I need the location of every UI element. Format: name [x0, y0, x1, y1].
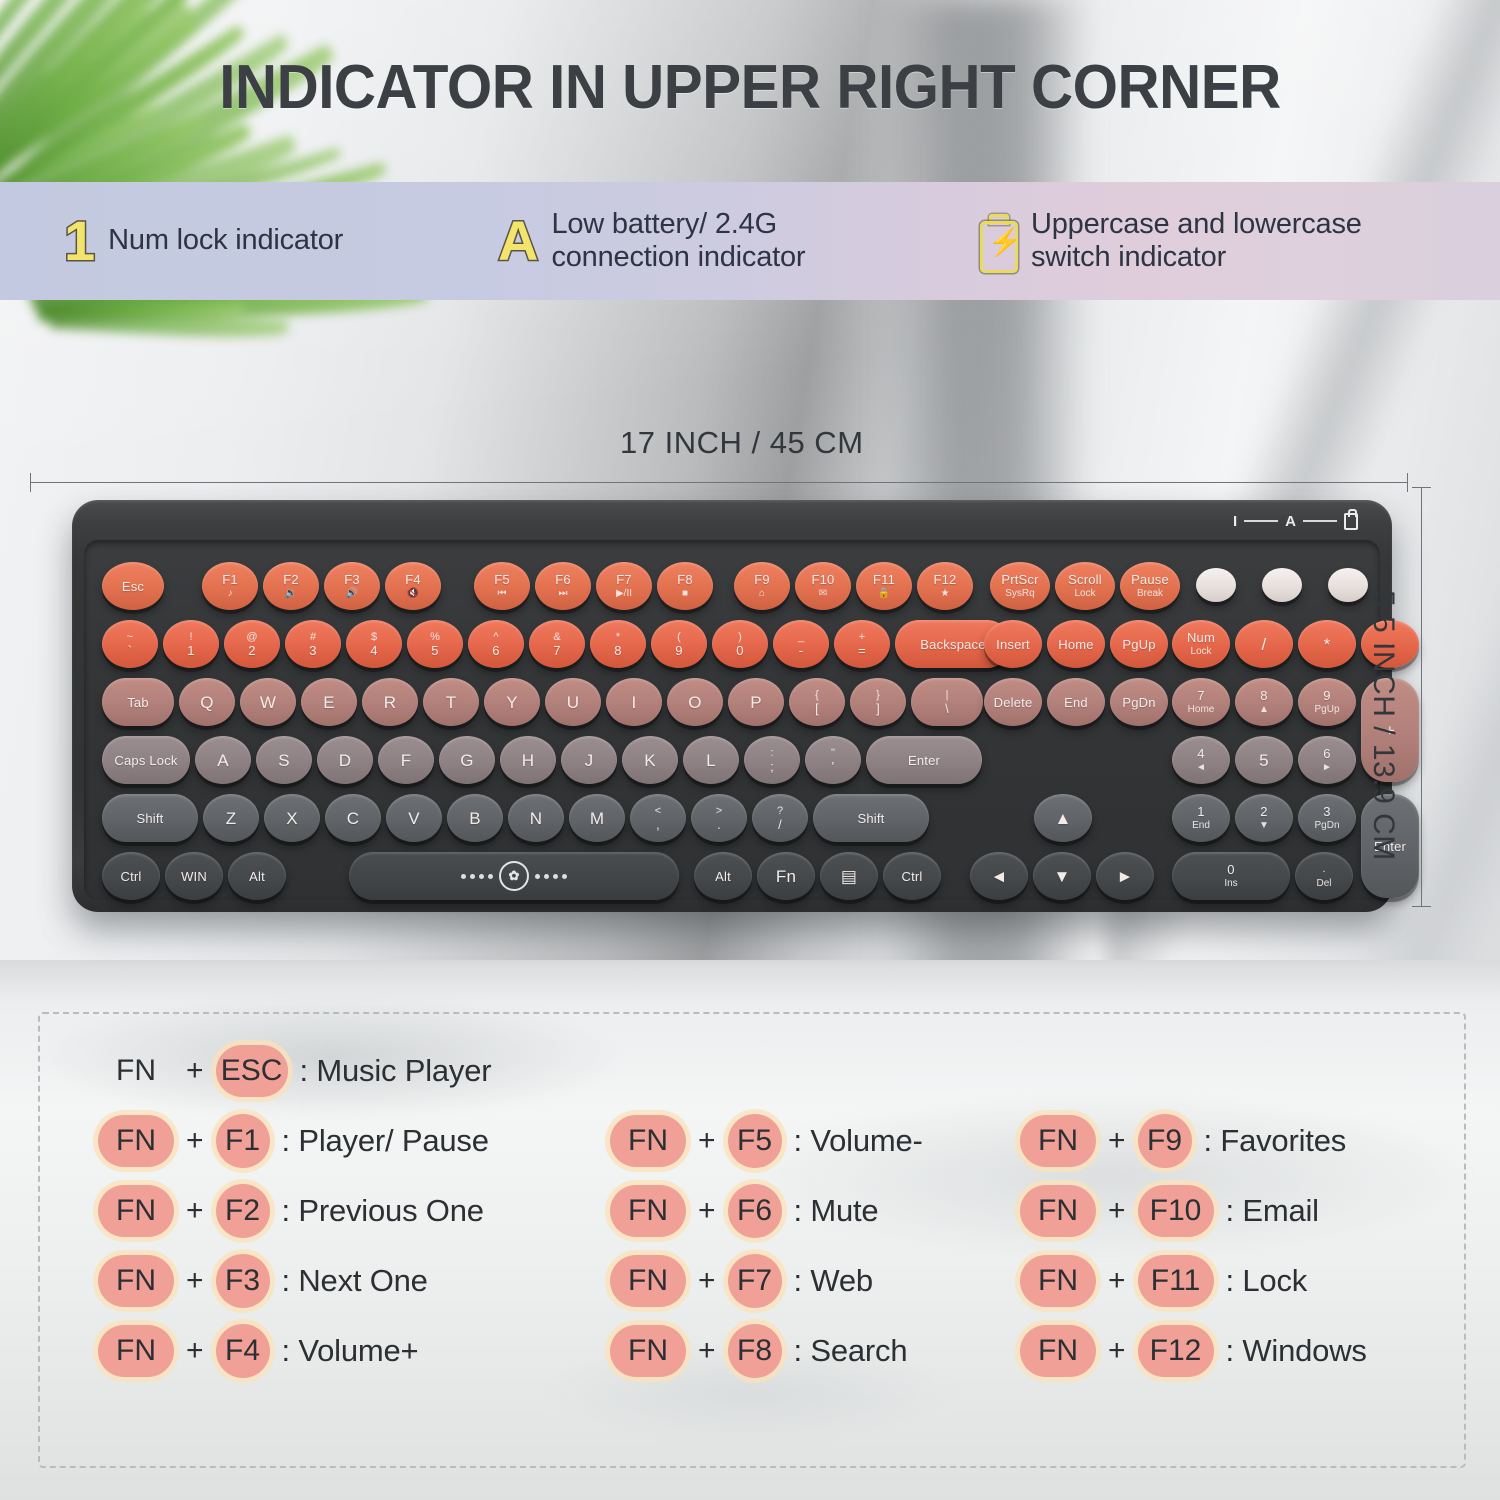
keyboard-key-row: ◄▼►	[970, 852, 1154, 900]
fn-shortcut-row: FN+F6: Mute	[610, 1176, 923, 1246]
keycap-blank[interactable]	[1328, 568, 1368, 602]
shortcut-description: : Next One	[282, 1263, 428, 1299]
keycap-0[interactable]: )0	[712, 620, 768, 668]
keycap-top-legend: *	[616, 632, 620, 643]
keycap-7[interactable]: &7	[529, 620, 585, 668]
keycap--[interactable]: /	[1235, 620, 1293, 668]
shortcut-description: : Music Player	[300, 1053, 492, 1089]
keycap-label: F4	[405, 573, 421, 586]
brand-logo-icon: ✿	[499, 861, 529, 891]
shortcut-key-chip: F10	[1138, 1185, 1214, 1237]
keycap-label: H	[522, 752, 534, 769]
keycap-f9[interactable]: F9⌂	[734, 562, 790, 610]
keycap-a[interactable]: A	[195, 736, 251, 784]
keycap-9[interactable]: (9	[651, 620, 707, 668]
keycap-i[interactable]: I	[606, 678, 662, 726]
shortcut-description: : Player/ Pause	[282, 1123, 489, 1159]
keycap-label: F1	[222, 573, 238, 586]
keycap-7[interactable]: 7Home	[1172, 678, 1230, 726]
plus-sign: +	[698, 1194, 716, 1228]
keycap-d[interactable]: D	[317, 736, 373, 784]
keycap-pause[interactable]: PauseBreak	[1120, 562, 1180, 610]
keycap-label: S	[278, 752, 290, 769]
keycap-label: 0	[1227, 863, 1234, 876]
keycap-alt[interactable]: Alt	[228, 852, 286, 900]
fn-key-chip: FN	[610, 1325, 686, 1377]
fn-key-chip: FN	[98, 1115, 174, 1167]
fn-shortcut-row: FN+F12: Windows	[1020, 1316, 1367, 1386]
space-dots-right	[535, 874, 567, 879]
keycap-sub-legend: 🔊	[346, 589, 358, 599]
keycap-top-legend: |	[946, 690, 949, 701]
shortcut-description: : Favorites	[1204, 1123, 1347, 1159]
keycap-s[interactable]: S	[256, 736, 312, 784]
keycap-6[interactable]: 6►	[1298, 736, 1356, 784]
keyboard-key-row: 4◄56►	[1172, 736, 1356, 784]
keycap-top-legend: _	[798, 632, 804, 643]
legend-item-numlock: 1 Num lock indicator	[64, 213, 484, 269]
keycap-1[interactable]: 1End	[1172, 794, 1230, 842]
keycap-esc[interactable]: Esc	[102, 562, 164, 610]
keycap-label: Q	[200, 694, 213, 711]
keycap-label: N	[530, 810, 542, 827]
keycap-label: F2	[283, 573, 299, 586]
keycap-label: F5	[494, 573, 510, 586]
legend-lowbattery-label-2: connection indicator	[551, 241, 805, 273]
keycap-label: J	[585, 752, 594, 769]
keyboard-key-row: ~`!1@2#3$4%5^6&7*8(9)0_-+=Backspace	[102, 620, 1011, 668]
keycap-f2[interactable]: F2🔉	[263, 562, 319, 610]
keycap-l[interactable]: L	[683, 736, 739, 784]
keycap-sub-legend: ★	[941, 589, 950, 599]
keycap-f[interactable]: F	[378, 736, 434, 784]
shortcut-description: : Lock	[1226, 1263, 1308, 1299]
keycap-caps-lock[interactable]: Caps Lock	[102, 736, 190, 784]
keycap-3[interactable]: 3PgDn	[1298, 794, 1356, 842]
keycap-sub-legend: ■	[682, 589, 688, 599]
keycap-label: /	[1262, 636, 1267, 653]
keycap-f4[interactable]: F4🔇	[385, 562, 441, 610]
keycap-label: -	[799, 644, 804, 657]
plus-sign: +	[1108, 1194, 1126, 1228]
led-mark-capslock: A	[1285, 514, 1296, 529]
keycap-label: 0	[736, 644, 743, 657]
keycap-m[interactable]: M	[569, 794, 625, 842]
keyboard-key-row: AltFn▤Ctrl	[694, 852, 941, 900]
keycap-label: 7	[553, 644, 560, 657]
keycap-1[interactable]: !1	[163, 620, 219, 668]
keycap-label: 9	[675, 644, 682, 657]
shortcut-description: : Mute	[794, 1193, 879, 1229]
keycap-sub-legend: ⏮	[498, 589, 507, 599]
keycap-label: Caps Lock	[114, 754, 177, 767]
keycap--[interactable]: ◄	[970, 852, 1028, 900]
plus-sign: +	[1108, 1124, 1126, 1158]
keycap-top-legend: {	[815, 690, 819, 701]
keycap-home[interactable]: Home	[1047, 620, 1105, 668]
keycap-label: PgDn	[1122, 696, 1155, 709]
keycap-label: Ctrl	[901, 870, 922, 883]
keycap--[interactable]: |\	[911, 678, 983, 726]
keycap-label: M	[590, 810, 604, 827]
keycap-sub-legend: SysRq	[1005, 589, 1034, 599]
keycap-sub-legend: PgDn	[1314, 821, 1339, 831]
keycap-top-legend: ^	[493, 632, 498, 643]
keycap-label: ;	[770, 760, 774, 773]
keycap-label: Pause	[1131, 573, 1169, 586]
keycap-num[interactable]: NumLock	[1172, 620, 1230, 668]
keycap-2[interactable]: @2	[224, 620, 280, 668]
keycap-end[interactable]: End	[1047, 678, 1105, 726]
keyboard-key-row: TabQWERTYUIOP{[}]|\	[102, 678, 983, 726]
keycap-label: Delete	[994, 696, 1033, 709]
led-mark-numlock: I	[1233, 514, 1237, 529]
keycap-label: *	[1324, 636, 1331, 653]
keycap-f6[interactable]: F6⏭	[535, 562, 591, 610]
keycap-label: Alt	[715, 870, 731, 883]
shortcut-description: : Search	[794, 1333, 908, 1369]
keycap-f12[interactable]: F12★	[917, 562, 973, 610]
space-dots-left	[461, 874, 493, 879]
keycap-sub-legend: Break	[1137, 589, 1163, 599]
keycap-label: F12	[933, 573, 956, 586]
shortcut-description: : Volume-	[794, 1123, 923, 1159]
keycap-label: 3	[1323, 805, 1330, 818]
shortcut-key-chip: F4	[216, 1324, 270, 1378]
legend-item-lowbattery: A Low battery/ 2.4G connection indicator	[498, 208, 968, 274]
keycap-sub-legend: ▲	[1259, 705, 1269, 715]
keycap--[interactable]: ▤	[820, 852, 878, 900]
keycap-blank[interactable]	[1196, 568, 1236, 602]
keycap-n[interactable]: N	[508, 794, 564, 842]
keycap-label: 4	[1197, 747, 1204, 760]
keycap-label: F7	[616, 573, 632, 586]
keycap-delete[interactable]: Delete	[984, 678, 1042, 726]
keycap-q[interactable]: Q	[179, 678, 235, 726]
keycap-8[interactable]: 8▲	[1235, 678, 1293, 726]
keycap-sub-legend: PgUp	[1314, 705, 1339, 715]
keycap-5[interactable]: %5	[407, 620, 463, 668]
shortcut-key-chip: F1	[216, 1114, 270, 1168]
led-rule-left	[1244, 520, 1278, 522]
keycap-label: Backspace	[920, 638, 985, 651]
keycap-label: 5	[1259, 752, 1269, 769]
fn-shortcut-row: FN+F1: Player/ Pause	[98, 1106, 491, 1176]
keycap-shift[interactable]: Shift	[102, 794, 198, 842]
keycap-top-legend: (	[677, 632, 681, 643]
fn-shortcut-row: FN+F11: Lock	[1020, 1246, 1367, 1316]
keycap-w[interactable]: W	[240, 678, 296, 726]
keycap-5[interactable]: 5	[1235, 736, 1293, 784]
keycap-top-legend: +	[859, 632, 865, 643]
plus-sign: +	[186, 1054, 204, 1088]
keycap-label: /	[778, 818, 782, 831]
keycap-sub-legend: Ins	[1224, 879, 1237, 889]
keycap-label: Tab	[127, 696, 149, 709]
fn-key-chip: FN	[610, 1185, 686, 1237]
plus-sign: +	[186, 1124, 204, 1158]
keycap-label: F	[401, 752, 412, 769]
keycap-r[interactable]: R	[362, 678, 418, 726]
keycap-top-legend: @	[246, 632, 257, 643]
keycap-ctrl[interactable]: Ctrl	[102, 852, 160, 900]
keycap-sub-legend: Lock	[1190, 647, 1211, 657]
shortcut-key-chip: F9	[1138, 1114, 1192, 1168]
fn-shortcut-row: FN+F4: Volume+	[98, 1316, 491, 1386]
keycap-label: V	[408, 810, 420, 827]
keycap-label: Fn	[776, 868, 796, 885]
keycap--[interactable]: ~`	[102, 620, 158, 668]
keycap-label: D	[339, 752, 351, 769]
keycap-label: PgUp	[1122, 638, 1155, 651]
keycap-g[interactable]: G	[439, 736, 495, 784]
keycap-label: 4	[370, 644, 377, 657]
plus-sign: +	[1108, 1264, 1126, 1298]
keycap-label: End	[1064, 696, 1088, 709]
plus-sign: +	[186, 1334, 204, 1368]
keycap-label: 8	[614, 644, 621, 657]
keycap-label: \	[945, 702, 949, 715]
keycap-p[interactable]: P	[728, 678, 784, 726]
keycap-enter[interactable]: Enter	[866, 736, 982, 784]
keycap-f5[interactable]: F5⏮	[474, 562, 530, 610]
keycap-label: 9	[1323, 689, 1330, 702]
keycap-f10[interactable]: F10✉	[795, 562, 851, 610]
keycap-label: .	[717, 818, 721, 831]
keycap-y[interactable]: Y	[484, 678, 540, 726]
fn-key-chip: FN	[98, 1325, 174, 1377]
keycap-v[interactable]: V	[386, 794, 442, 842]
fn-key-chip: FN	[98, 1185, 174, 1237]
keycap-4[interactable]: $4	[346, 620, 402, 668]
keycap-label: Esc	[122, 580, 144, 593]
keycap-scroll[interactable]: ScrollLock	[1055, 562, 1115, 610]
keycap-label: 6	[492, 644, 499, 657]
keycap-label: U	[567, 694, 579, 711]
keycap-label: C	[347, 810, 359, 827]
keyboard-key-row: CtrlWINAlt	[102, 852, 286, 900]
keycap-top-legend: >	[716, 806, 722, 817]
keycap-label: ►	[1116, 868, 1133, 885]
fn-shortcut-panel: FN+ESC: Music PlayerFN+F1: Player/ Pause…	[38, 1012, 1466, 1468]
keycap-top-legend: ~	[127, 632, 133, 643]
keycap-o[interactable]: O	[667, 678, 723, 726]
keycap-label: ]	[876, 702, 880, 715]
plus-sign: +	[698, 1124, 716, 1158]
shortcut-description: : Previous One	[282, 1193, 484, 1229]
keycap-shift[interactable]: Shift	[813, 794, 929, 842]
keycap-top-legend: $	[371, 632, 377, 643]
keycap-win[interactable]: WIN	[165, 852, 223, 900]
keycap-sub-legend: ✉	[819, 589, 827, 599]
fn-key-chip: FN	[1020, 1255, 1096, 1307]
led-mark-lock-icon	[1344, 513, 1358, 530]
keycap-sub-legend: ⏭	[559, 589, 568, 599]
keycap-sub-legend: 🔉	[285, 589, 297, 599]
keycap-c[interactable]: C	[325, 794, 381, 842]
fn-key-chip: FN	[1020, 1115, 1096, 1167]
keycap-label: 1	[1197, 805, 1204, 818]
keycap--[interactable]: {[	[789, 678, 845, 726]
keycap-e[interactable]: E	[301, 678, 357, 726]
keycap-label: F10	[811, 573, 834, 586]
keycap-4[interactable]: 4◄	[1172, 736, 1230, 784]
keycap-sub-legend: ⌂	[759, 589, 765, 599]
keycap-label: Y	[506, 694, 518, 711]
plus-sign: +	[698, 1334, 716, 1368]
legend-case-label-1: Uppercase and lowercase	[1031, 208, 1362, 240]
keyboard-key-row: ShiftZXCVBNM<,>.?/Shift	[102, 794, 929, 842]
keycap-label: Shift	[857, 812, 884, 825]
fn-shortcut-row: FN+F9: Favorites	[1020, 1106, 1367, 1176]
keycap-0[interactable]: 0Ins	[1172, 852, 1290, 900]
fn-key-chip: FN	[1020, 1325, 1096, 1377]
keycap-tab[interactable]: Tab	[102, 678, 174, 726]
keycap-j[interactable]: J	[561, 736, 617, 784]
legend-case-label-2: switch indicator	[1031, 241, 1226, 273]
shortcut-description: : Email	[1226, 1193, 1319, 1229]
keycap-3[interactable]: #3	[285, 620, 341, 668]
keycap--[interactable]: .Del	[1295, 852, 1353, 900]
keycap-f8[interactable]: F8■	[657, 562, 713, 610]
keycap-label: `	[128, 644, 133, 657]
keycap--[interactable]: +=	[834, 620, 890, 668]
shortcut-key-chip: F11	[1138, 1255, 1214, 1307]
plus-sign: +	[1108, 1334, 1126, 1368]
keycap-label: F9	[754, 573, 770, 586]
keycap-f7[interactable]: F7▶/II	[596, 562, 652, 610]
keycap-t[interactable]: T	[423, 678, 479, 726]
keycap-label: Insert	[996, 638, 1030, 651]
keycap-2[interactable]: 2▼	[1235, 794, 1293, 842]
legend-numlock-label: Num lock indicator	[108, 224, 343, 256]
shortcut-key-chip: F7	[728, 1254, 782, 1308]
keycap--[interactable]: *	[1298, 620, 1356, 668]
keycap-top-legend: "	[831, 748, 835, 759]
keycap-label: '	[832, 760, 835, 773]
keycap-label: F3	[344, 573, 360, 586]
keycap-blank[interactable]	[1262, 568, 1302, 602]
keycap-fn[interactable]: Fn	[757, 852, 815, 900]
keyboard-key-row: Esc	[102, 562, 164, 610]
shortcut-key-chip: F3	[216, 1254, 270, 1308]
legend-lowbattery-label-1: Low battery/ 2.4G	[551, 208, 777, 240]
keycap-alt[interactable]: Alt	[694, 852, 752, 900]
keyboard-height-label: 5.5 INCH / 13.9 CM	[1366, 590, 1400, 830]
keycap-label: G	[460, 752, 473, 769]
keycap--[interactable]: }]	[850, 678, 906, 726]
keycap-label: 2	[248, 644, 255, 657]
keycap-label: Home	[1058, 638, 1093, 651]
shortcut-key-chip: F5	[728, 1114, 782, 1168]
keycap-label: Shift	[136, 812, 163, 825]
keycap-label: Enter	[908, 754, 940, 767]
fn-key-chip: FN	[1020, 1185, 1096, 1237]
keycap-label: K	[644, 752, 656, 769]
keyboard-key-row: 0Ins.Del	[1172, 852, 1353, 900]
keycap-label: 3	[309, 644, 316, 657]
keycap--[interactable]: "'	[805, 736, 861, 784]
keycap-label: PrtScr	[1001, 573, 1038, 586]
keycap-8[interactable]: *8	[590, 620, 646, 668]
shortcut-description: : Windows	[1226, 1333, 1367, 1369]
keycap-9[interactable]: 9PgUp	[1298, 678, 1356, 726]
keyboard-led-markings: I A	[1233, 511, 1358, 531]
battery-bolt-icon: ⚡	[978, 213, 1018, 269]
keycap-prtscr[interactable]: PrtScrSysRq	[990, 562, 1050, 610]
keycap-6[interactable]: ^6	[468, 620, 524, 668]
keycap-ctrl[interactable]: Ctrl	[883, 852, 941, 900]
keycap--[interactable]: ►	[1096, 852, 1154, 900]
keyboard-width-label: 17 INCH / 45 CM	[620, 425, 864, 461]
fn-key-chip: FN	[610, 1255, 686, 1307]
keyboard-height-dimension-line	[1421, 487, 1422, 907]
shortcut-description: : Web	[794, 1263, 873, 1299]
keyboard-product-image: I A EscF1♪F2🔉F3🔊F4🔇F5⏮F6⏭F7▶/IIF8■F9⌂F10…	[72, 500, 1392, 912]
keycap-label: ▤	[841, 868, 857, 885]
fn-shortcut-row: FN+ESC: Music Player	[98, 1036, 491, 1106]
keycap-label: 7	[1197, 689, 1204, 702]
shortcut-key-chip: F12	[1138, 1325, 1214, 1377]
keycap-sub-legend: ♪	[228, 589, 233, 599]
keyboard-key-row: PrtScrSysRqScrollLockPauseBreak	[990, 562, 1180, 610]
keycap--[interactable]: ▲	[1034, 794, 1092, 842]
keycap--[interactable]: ▼	[1033, 852, 1091, 900]
keycap-label: WIN	[181, 870, 207, 883]
keycap-space[interactable]: ✿	[349, 852, 679, 900]
keycap-u[interactable]: U	[545, 678, 601, 726]
fn-shortcut-row: FN+F8: Search	[610, 1316, 923, 1386]
keycap-pgup[interactable]: PgUp	[1110, 620, 1168, 668]
fn-shortcut-row: FN+F5: Volume-	[610, 1106, 923, 1176]
keycap-f1[interactable]: F1♪	[202, 562, 258, 610]
keycap-top-legend: !	[189, 632, 192, 643]
keycap--[interactable]: >.	[691, 794, 747, 842]
keycap-sub-legend: ▶/II	[616, 589, 632, 599]
keycap-label: ▼	[1053, 868, 1070, 885]
keycap-z[interactable]: Z	[203, 794, 259, 842]
fn-key-label: FN	[98, 1054, 174, 1088]
keycap-k[interactable]: K	[622, 736, 678, 784]
keycap-label: Num	[1187, 631, 1215, 644]
keycap-pgdn[interactable]: PgDn	[1110, 678, 1168, 726]
keycap-insert[interactable]: Insert	[984, 620, 1042, 668]
keycap-label: =	[858, 644, 866, 657]
keycap-top-legend: %	[430, 632, 440, 643]
keycap-x[interactable]: X	[264, 794, 320, 842]
keycap--[interactable]: ?/	[752, 794, 808, 842]
keycap-sub-legend: Home	[1188, 705, 1215, 715]
keycap-f3[interactable]: F3🔊	[324, 562, 380, 610]
keycap--[interactable]: <,	[630, 794, 686, 842]
keyboard-key-row: ▲	[1034, 794, 1092, 842]
keycap-sub-legend: ►	[1322, 763, 1332, 773]
keycap-top-legend: &	[553, 632, 560, 643]
keycap--[interactable]: _-	[773, 620, 829, 668]
keycap-label: W	[260, 694, 276, 711]
keycap-label: F11	[873, 573, 895, 586]
keycap-label: 8	[1260, 689, 1267, 702]
keyboard-key-row: F5⏮F6⏭F7▶/IIF8■	[474, 562, 713, 610]
keycap-top-legend: ?	[777, 806, 783, 817]
keycap-f11[interactable]: F11🔒	[856, 562, 912, 610]
keycap-label: E	[323, 694, 335, 711]
keycap-label: Ctrl	[120, 870, 141, 883]
keycap-b[interactable]: B	[447, 794, 503, 842]
keycap-label: X	[286, 810, 298, 827]
keycap-h[interactable]: H	[500, 736, 556, 784]
keycap--[interactable]: :;	[744, 736, 800, 784]
